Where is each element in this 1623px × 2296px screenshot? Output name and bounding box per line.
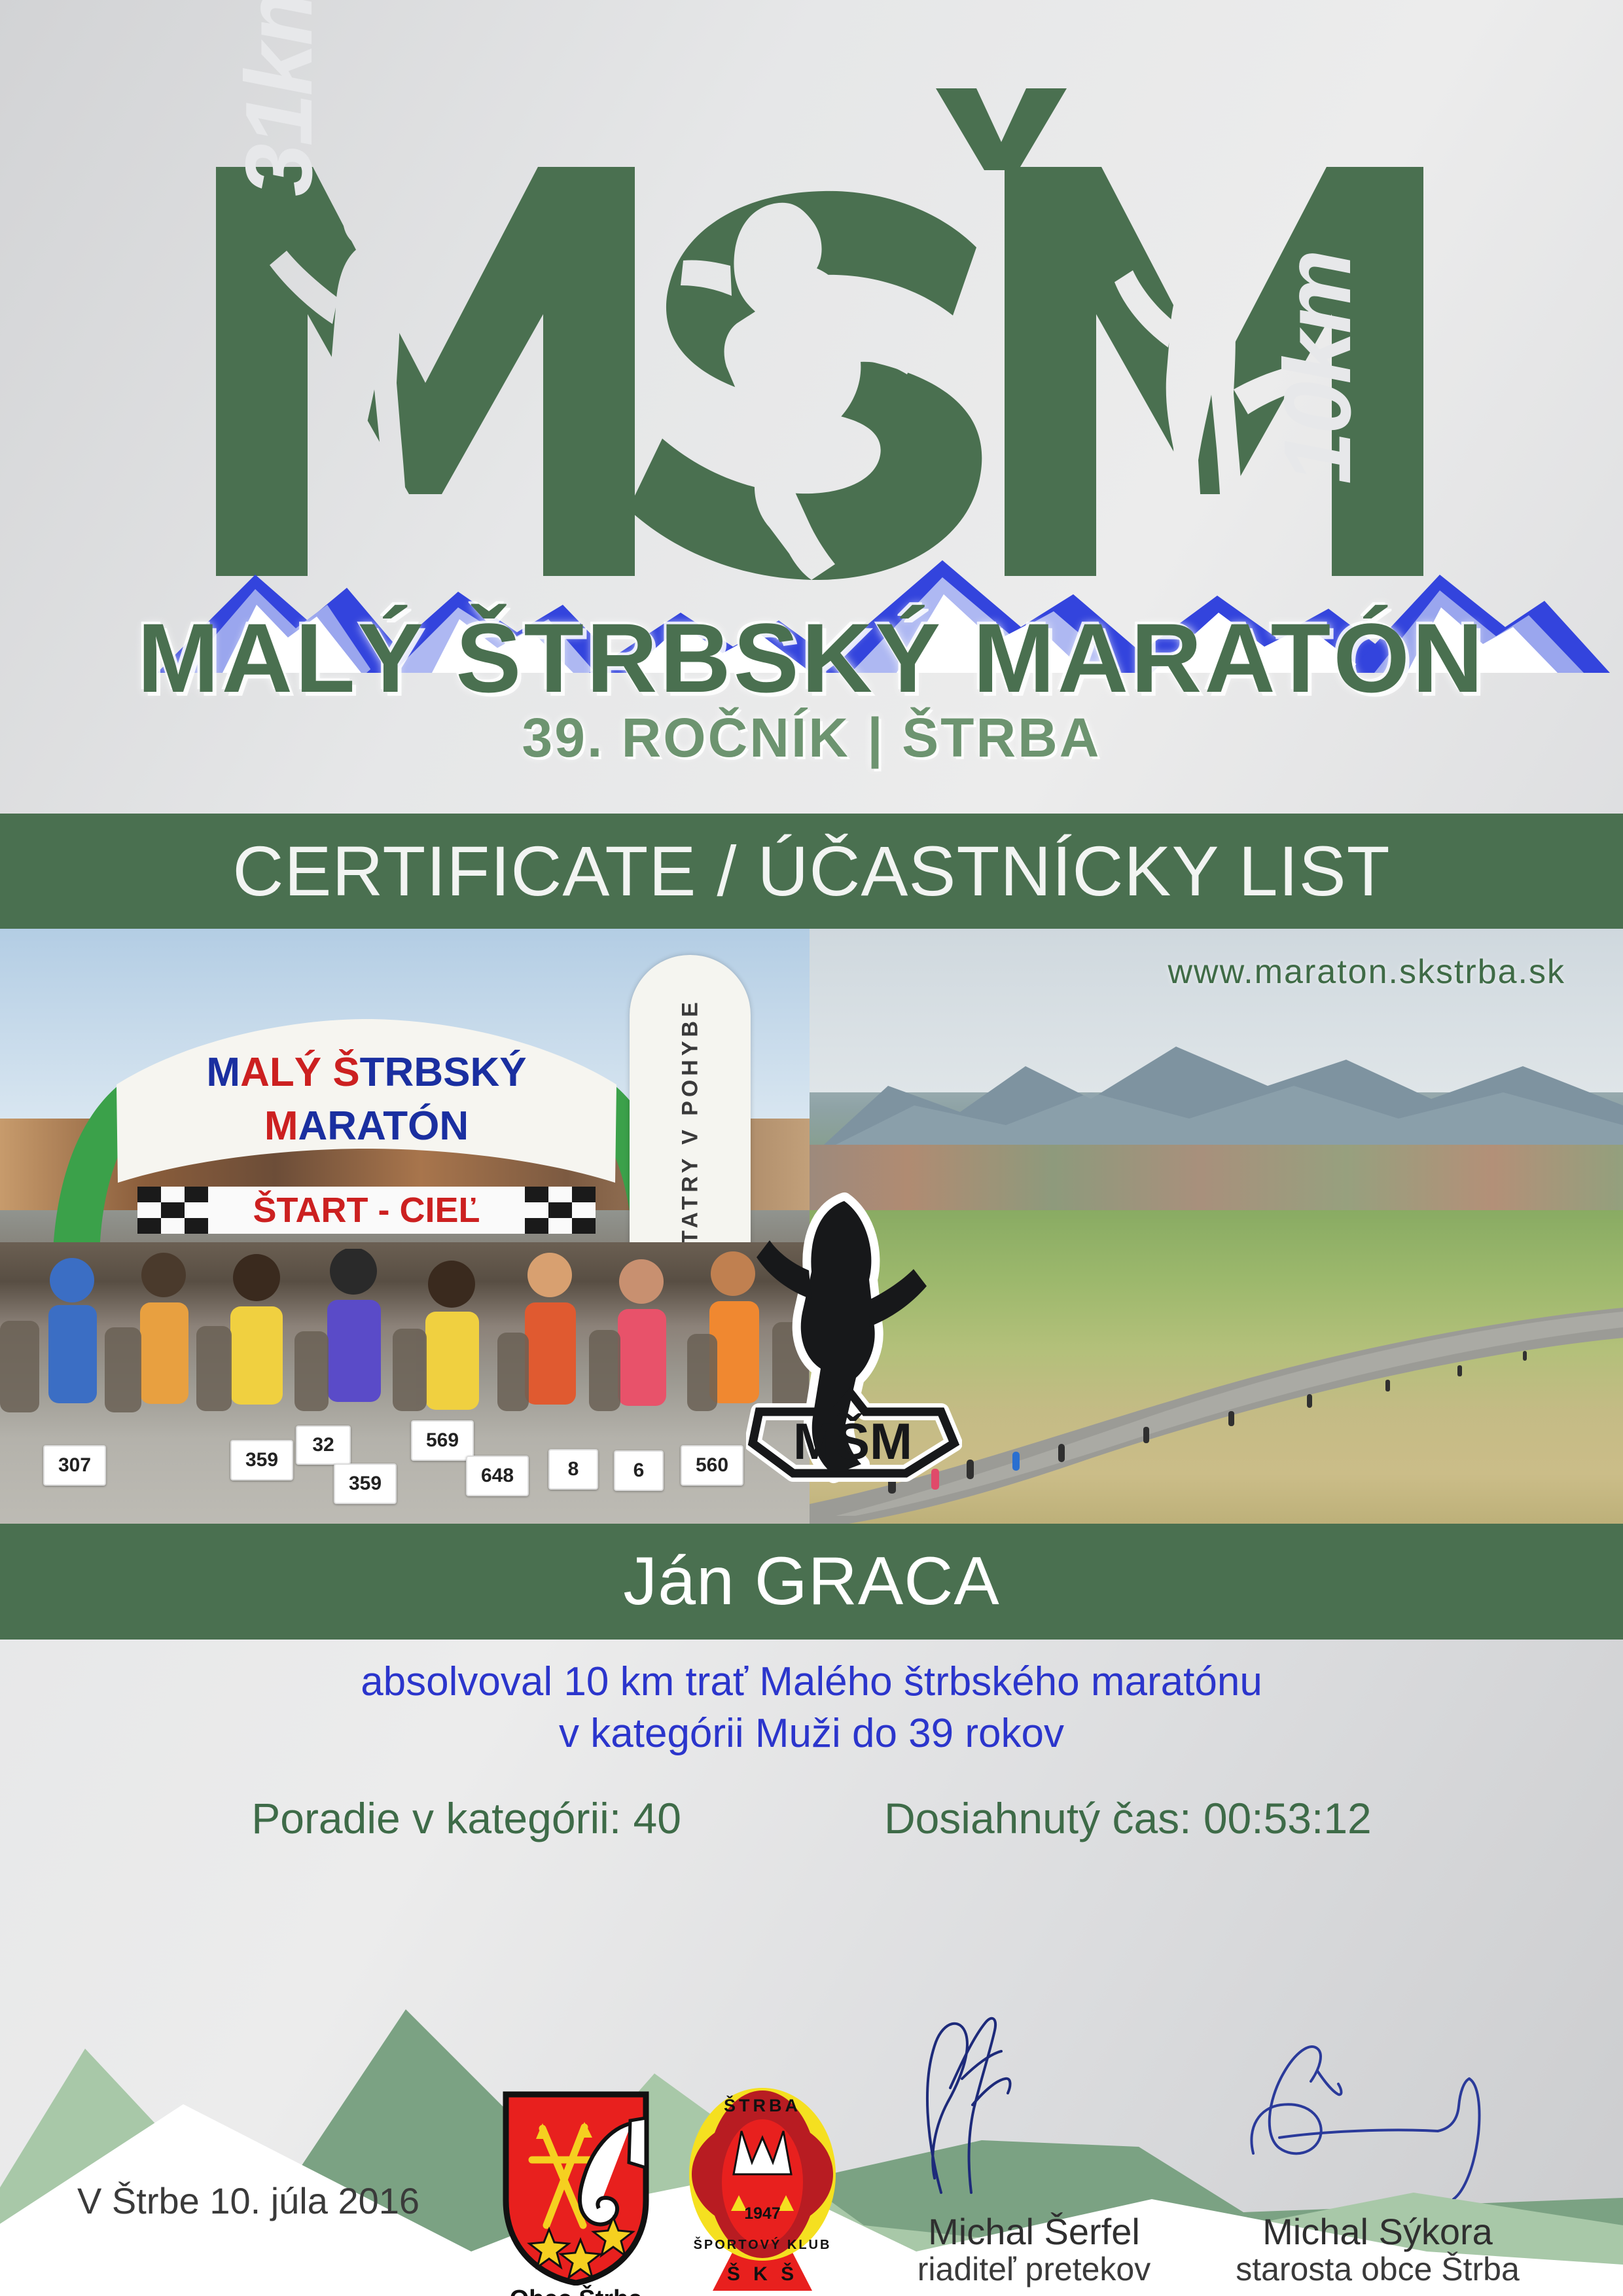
badge-text: MŠM	[793, 1412, 912, 1470]
sponsor-flag: TATRY V POHYBE	[630, 955, 751, 1263]
achievement-line-2: v kategórii Muži do 39 rokov	[0, 1708, 1623, 1759]
sks-top-label: ŠTRBA	[724, 2095, 801, 2115]
caron-accent-icon	[936, 88, 1067, 170]
website-url: www.maraton.skstrba.sk	[1168, 952, 1566, 992]
rank-value: Poradie v kategórii: 40	[251, 1793, 681, 1843]
signatory-role: riaditeľ pretekov	[864, 2251, 1204, 2287]
sponsor-flag-label: TATRY V POHYBE	[677, 998, 703, 1244]
start-line-photo: MALÝ ŠTRBSKÝ MARATÓN ŠTART - CIEĽ TAT	[0, 929, 810, 1524]
logo-zone: 31km 10km MALÝ ŠT	[0, 0, 1623, 814]
event-subtitle: 39. ROČNÍK | ŠTRBA	[0, 710, 1623, 765]
results-row: Poradie v kategórii: 40 Dosiahnutý čas: …	[0, 1793, 1623, 1843]
distance-left-label: 31km	[224, 0, 334, 196]
signatory-name: Michal Sýkora	[1207, 2212, 1548, 2251]
runner-bib: 648	[466, 1456, 529, 1496]
sks-arc-label: ŠPORTOVÝ KLUB	[694, 2236, 832, 2252]
distance-right-label: 10km	[1263, 252, 1372, 484]
sks-year-label: 1947	[744, 2204, 781, 2223]
runner-bib: 560	[681, 1445, 743, 1486]
achievement-line-1: absolvoval 10 km trať Malého štrbského m…	[361, 1659, 1262, 1704]
logo-letter-s	[615, 164, 1021, 583]
inflatable-start-arch: MALÝ ŠTRBSKÝ MARATÓN ŠTART - CIEĽ	[39, 1001, 694, 1276]
runner-bib: 569	[411, 1420, 474, 1461]
svg-text:MALÝ ŠTRBSKÝ: MALÝ ŠTRBSKÝ	[206, 1050, 526, 1095]
signatory-name: Michal Šerfel	[864, 2212, 1204, 2251]
issue-date: V Štrbe 10. júla 2016	[77, 2179, 419, 2222]
runner-bib: 359	[334, 1463, 397, 1504]
crest-label: Obec Štrba	[488, 2286, 664, 2296]
runner-bib: 8	[548, 1449, 598, 1490]
certificate-title: CERTIFICATE / ÚČASTNÍCKY LIST	[0, 814, 1623, 929]
tatra-mountains	[810, 1027, 1623, 1158]
runner-bib: 6	[614, 1450, 664, 1491]
signatory-role: starosta obce Štrba	[1207, 2251, 1548, 2287]
runner-bib: 359	[230, 1440, 293, 1480]
svg-text:MARATÓN: MARATÓN	[264, 1103, 469, 1149]
runner-bib: 32	[296, 1426, 351, 1465]
msm-runner-badge-icon: MŠM	[746, 1181, 962, 1489]
svg-text:ŠTART - CIEĽ: ŠTART - CIEĽ	[253, 1190, 480, 1230]
certificate-page: 31km 10km MALÝ ŠT	[0, 0, 1623, 2296]
participant-name-bar: Ján GRACA	[0, 1524, 1623, 1640]
certificate-title-bar: CERTIFICATE / ÚČASTNÍCKY LIST	[0, 814, 1623, 929]
participant-name: Ján GRACA	[0, 1524, 1623, 1640]
sks-strba-club-logo-icon: ŠTRBA 1947 ŠPORTOVÝ KLUB Š K Š	[684, 2083, 841, 2292]
event-title: MALÝ ŠTRBSKÝ MARATÓN	[0, 609, 1623, 707]
msm-logo	[216, 39, 1427, 563]
sks-bottom-label: Š K Š	[727, 2263, 798, 2285]
logo-letter-m-left	[216, 167, 635, 576]
obec-strba-crest-icon	[501, 2089, 651, 2286]
signature-block-director: Michal Šerfel riaditeľ pretekov	[864, 2081, 1204, 2287]
footer: V Štrbe 10. júla 2016	[0, 2055, 1623, 2296]
time-value: Dosiahnutý čas: 00:53:12	[884, 1793, 1372, 1843]
achievement-text: absolvoval 10 km trať Malého štrbského m…	[0, 1656, 1623, 1760]
signature-block-mayor: Michal Sýkora starosta obce Štrba	[1207, 2081, 1548, 2287]
runner-bib: 307	[43, 1445, 106, 1486]
